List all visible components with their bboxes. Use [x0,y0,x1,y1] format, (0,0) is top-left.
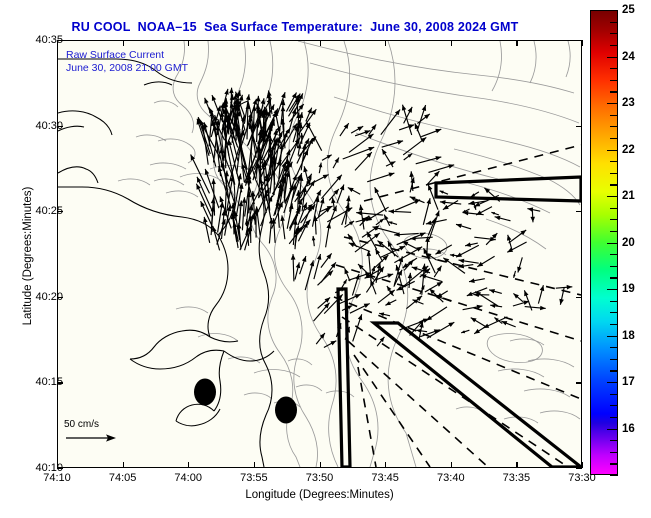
x-axis-tick-mark [385,462,386,468]
station-markers [194,379,297,424]
colorbar-minor-tick [610,208,618,209]
colorbar-minor-tick [610,336,618,337]
colorbar-minor-tick [610,57,618,58]
colorbar-minor-tick [610,243,618,244]
colorbar-minor-tick [610,196,618,197]
y-axis-tick-mark [576,297,582,298]
x-axis-tick-mark [188,40,189,46]
colorbar-minor-tick [610,10,618,11]
colorbar-minor-tick [610,394,618,395]
x-axis-tick-mark [451,462,452,468]
x-axis-tick-mark [451,40,452,46]
x-axis-tick-mark [582,40,583,46]
colorbar-tick-label: 19 [622,283,635,295]
radar-beam-rays [334,145,581,467]
colorbar-tick-label: 21 [622,190,635,202]
colorbar-tick-label: 16 [622,423,635,435]
x-axis-tick-mark [57,40,58,46]
colorbar-tick-label: 24 [622,51,635,63]
y-axis-label: Latitude (Degrees:Minutes) [22,136,34,376]
map-canvas [58,41,581,467]
colorbar-minor-tick [610,173,618,174]
colorbar-minor-tick [610,68,618,69]
x-axis-tick-mark [57,462,58,468]
x-axis-tick-label: 74:10 [43,472,71,484]
colorbar-minor-tick [610,475,618,476]
colorbar-minor-tick [610,266,618,267]
colorbar-minor-tick [610,429,618,430]
x-axis-tick-mark [516,462,517,468]
colorbar-minor-tick [610,417,618,418]
x-axis-label: Longitude (Degrees:Minutes) [57,489,582,501]
x-axis-tick-mark [123,40,124,46]
colorbar-minor-tick [610,184,618,185]
colorbar-minor-tick [610,161,618,162]
colorbar-minor-tick [610,463,618,464]
colorbar-tick-label: 23 [622,97,635,109]
colorbar-tick-label: 18 [622,330,635,342]
colorbar-minor-tick [610,277,618,278]
colorbar-minor-tick [610,219,618,220]
colorbar-minor-tick [610,126,618,127]
colorbar-minor-tick [610,382,618,383]
y-axis-tick-mark [576,382,582,383]
x-axis-tick-mark [516,40,517,46]
colorbar-tick-label: 20 [622,237,635,249]
y-axis-tick-mark [57,126,63,127]
colorbar-minor-tick [610,254,618,255]
colorbar-minor-tick [610,80,618,81]
colorbar-minor-tick [610,103,618,104]
y-axis-tick-mark [57,382,63,383]
x-axis-tick-label: 73:40 [437,472,465,484]
vector-scale-label: 50 cm/s [64,419,118,430]
map-plot-area[interactable]: Raw Surface CurrentJune 30, 2008 21:00 G… [57,40,582,468]
colorbar-minor-tick [610,440,618,441]
vector-scale-arrow-icon [64,432,118,444]
colorbar-minor-tick [610,312,618,313]
x-axis-tick-label: 73:45 [371,472,399,484]
page-title: RU COOL NOAA–15 Sea Surface Temperature:… [0,20,590,34]
x-axis-tick-label: 73:50 [306,472,334,484]
y-axis-tick-mark [57,211,63,212]
x-axis-tick-mark [254,40,255,46]
colorbar-minor-tick [610,370,618,371]
colorbar-minor-tick [610,150,618,151]
x-axis-tick-label: 73:55 [240,472,268,484]
vector-scale-key: 50 cm/s [64,419,118,449]
colorbar-minor-tick [610,91,618,92]
x-axis-tick-mark [123,462,124,468]
surface-current-vectors [191,88,573,348]
x-axis-tick-mark [320,40,321,46]
colorbar-minor-tick [610,359,618,360]
x-axis-tick-mark [254,462,255,468]
y-axis-tick-mark [576,211,582,212]
colorbar-minor-tick [610,301,618,302]
colorbar-minor-tick [610,22,618,23]
colorbar-minor-tick [610,405,618,406]
colorbar-minor-tick [610,33,618,34]
colorbar-minor-tick [610,45,618,46]
x-axis-tick-mark [320,462,321,468]
x-axis-tick-label: 74:00 [174,472,202,484]
colorbar-minor-tick [610,289,618,290]
colorbar-minor-tick [610,452,618,453]
colorbar-minor-tick [610,231,618,232]
x-axis-tick-label: 74:05 [109,472,137,484]
x-axis-tick-mark [385,40,386,46]
x-axis-tick-label: 73:35 [503,472,531,484]
x-axis-tick-mark [188,462,189,468]
y-axis-tick-mark [57,297,63,298]
colorbar-tick-label: 25 [622,4,635,16]
map-vector-layer [58,41,581,467]
y-axis-tick-mark [576,126,582,127]
colorbar-minor-tick [610,138,618,139]
y-axis-tick-mark [57,468,63,469]
radar-swath-boxes [338,177,581,467]
colorbar-tick-label: 22 [622,144,635,156]
colorbar-minor-tick [610,115,618,116]
colorbar-minor-tick [610,324,618,325]
colorbar-minor-tick [610,347,618,348]
y-axis-tick-mark [576,468,582,469]
colorbar-tick-label: 17 [622,376,635,388]
x-axis-tick-mark [582,462,583,468]
